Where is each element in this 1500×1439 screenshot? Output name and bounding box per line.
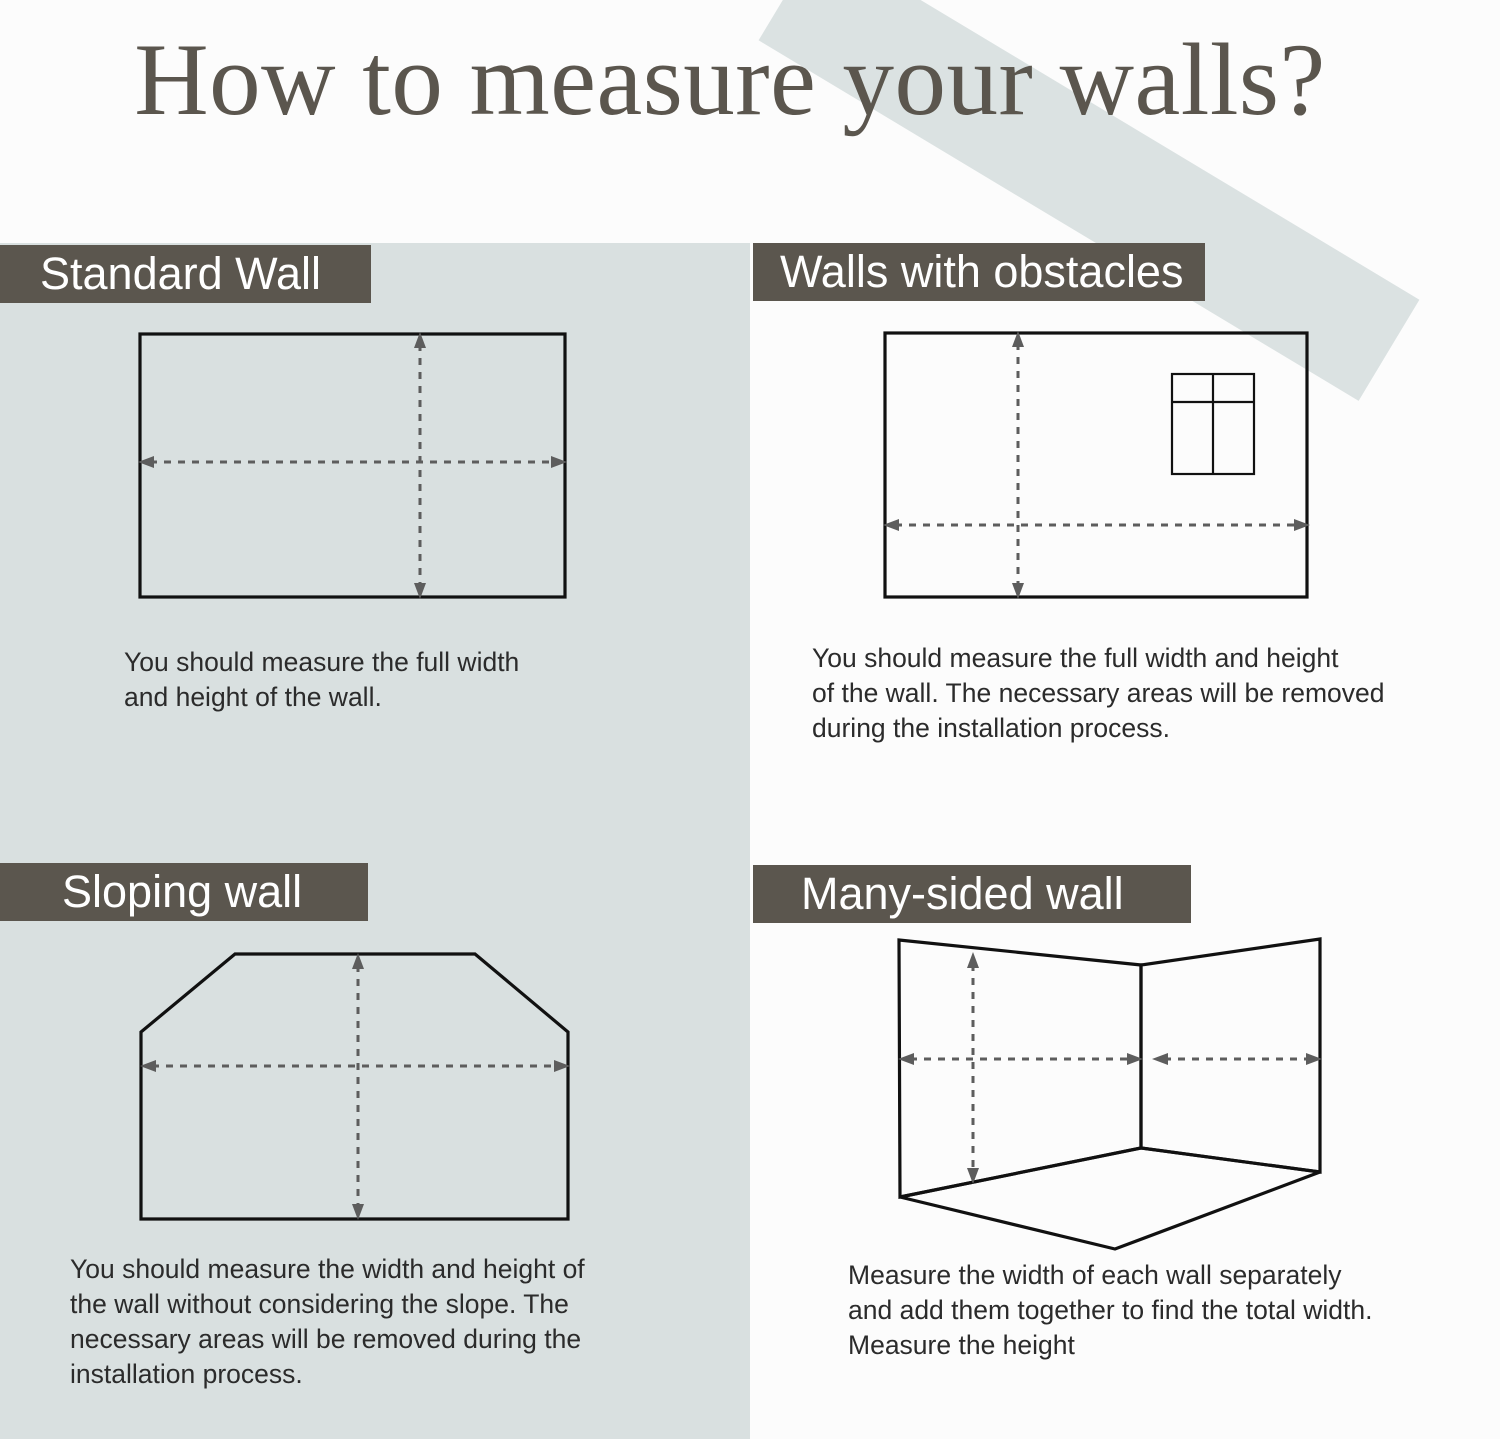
- caption-many-sided-wall: Measure the width of each wall separatel…: [848, 1258, 1468, 1363]
- many-sided-wall-diagram: [888, 928, 1348, 1268]
- section-banner-many-sided-wall: Many-sided wall: [753, 865, 1191, 923]
- width-dimension-arrow: [138, 456, 567, 468]
- sloping-wall-diagram: [130, 940, 590, 1240]
- height-dimension-arrow: [414, 332, 426, 599]
- width-dimension-arrow: [140, 1060, 570, 1072]
- width-dimension-arrow: [883, 519, 1310, 531]
- right-wall-width-dimension-arrow: [1152, 1053, 1322, 1065]
- page-title: How to measure your walls?: [0, 26, 1460, 134]
- left-wall-panel: [899, 940, 1141, 1197]
- height-dimension-arrow: [1012, 331, 1024, 599]
- caption-standard-wall: You should measure the full width and he…: [124, 645, 644, 715]
- caption-sloping-wall: You should measure the width and height …: [70, 1252, 690, 1392]
- height-dimension-arrow: [967, 952, 979, 1184]
- infographic-page: How to measure your walls? Standard Wall…: [0, 0, 1500, 1439]
- window-icon: [1172, 374, 1254, 474]
- standard-wall-diagram: [130, 322, 590, 617]
- section-banner-walls-with-obstacles: Walls with obstacles: [753, 243, 1205, 301]
- wall-outline: [140, 334, 565, 597]
- wall-with-window-diagram: [875, 322, 1335, 617]
- height-dimension-arrow: [352, 953, 364, 1220]
- section-banner-standard-wall: Standard Wall: [0, 245, 371, 303]
- left-wall-width-dimension-arrow: [898, 1053, 1143, 1065]
- caption-walls-with-obstacles: You should measure the full width and he…: [812, 641, 1472, 746]
- section-banner-sloping-wall: Sloping wall: [0, 863, 368, 921]
- floor-panel: [900, 1148, 1320, 1249]
- wall-outline: [141, 954, 568, 1219]
- wall-outline: [885, 333, 1307, 597]
